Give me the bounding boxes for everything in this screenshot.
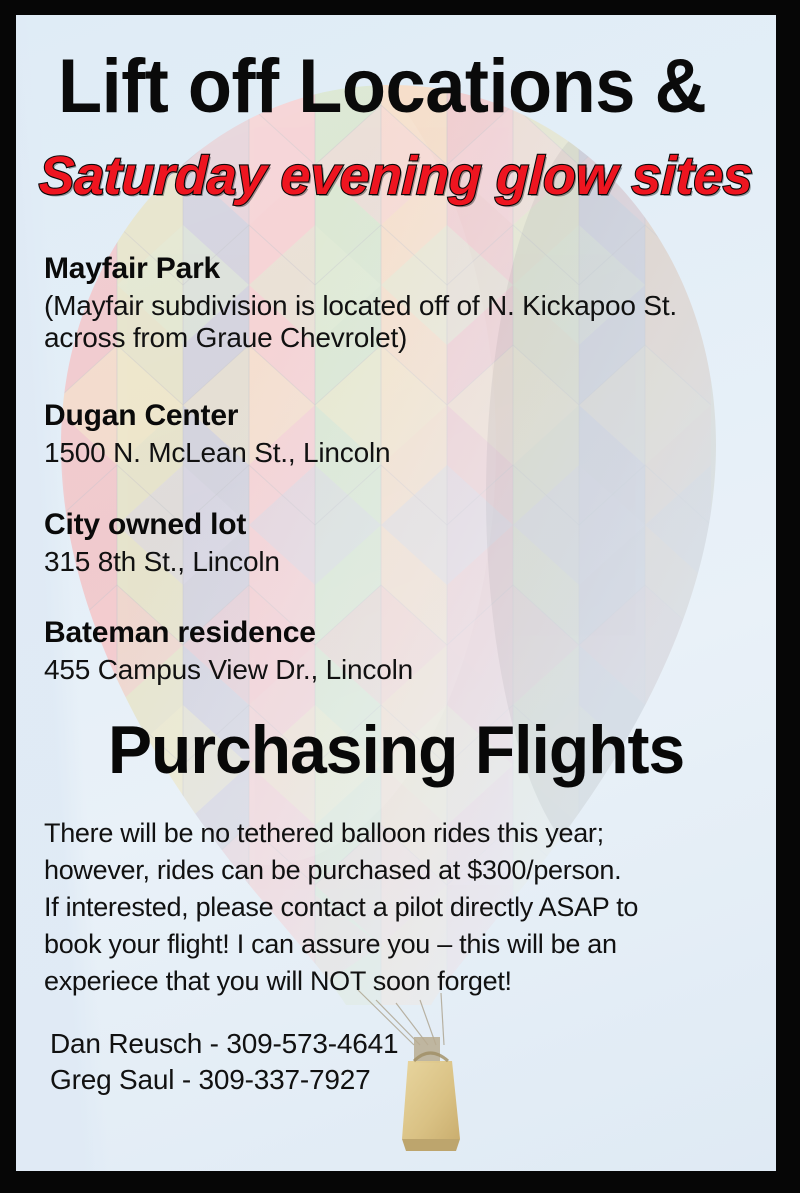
purchasing-body-text: There will be no tethered balloon rides … [44,815,744,1000]
location-name: Bateman residence [44,617,316,649]
location-address: 315 8th St., Lincoln [44,546,280,578]
location-address: 455 Campus View Dr., Lincoln [44,654,413,686]
contact-line: Greg Saul - 309-337-7927 [50,1063,371,1097]
location-name: City owned lot [44,509,246,541]
contact-line: Dan Reusch - 309-573-4641 [50,1027,398,1061]
poster-content: Lift off Locations & Saturday evening gl… [16,15,776,1171]
location-address: (Mayfair subdivision is located off of N… [44,290,677,354]
poster-canvas: Lift off Locations & Saturday evening gl… [16,15,776,1171]
location-name: Dugan Center [44,400,238,432]
page-title: Lift off Locations & [58,49,706,125]
location-address: 1500 N. McLean St., Lincoln [44,437,390,469]
location-name: Mayfair Park [44,253,220,285]
page-subtitle: Saturday evening glow sites [38,148,754,204]
section-heading-purchasing-flights: Purchasing Flights [108,715,684,785]
poster-flyer: Lift off Locations & Saturday evening gl… [0,0,800,1193]
